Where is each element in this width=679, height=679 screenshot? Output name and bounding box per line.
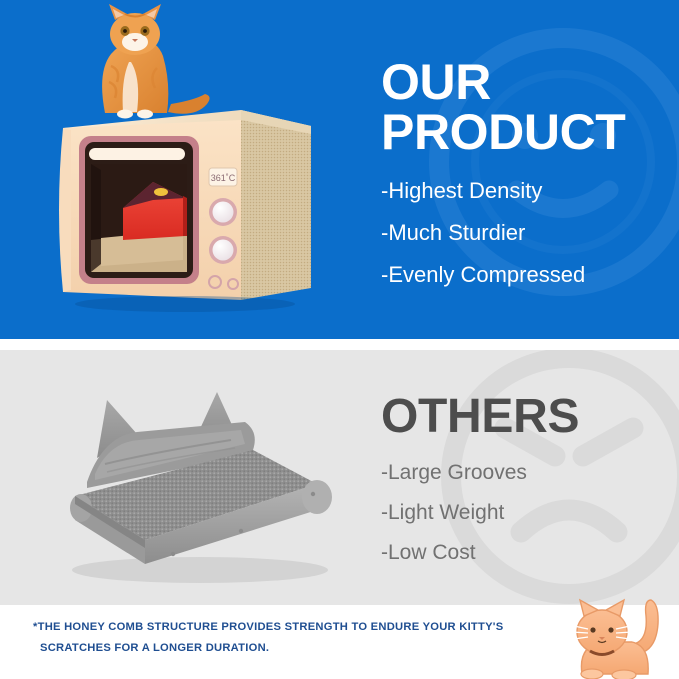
- our-product-heading-line2: PRODUCT: [381, 108, 671, 158]
- others-bullet-2: -Light Weight: [381, 500, 527, 540]
- orange-tabby-cat: [102, 4, 209, 119]
- control-knob-1: [209, 198, 237, 226]
- our-product-heading-line1: OUR: [381, 58, 671, 108]
- end-cap-right: [302, 480, 332, 514]
- control-knob-2: [209, 236, 237, 264]
- others-section: OTHERS -Large Grooves -Light Weight -Low…: [0, 350, 679, 605]
- others-bullet-list: -Large Grooves -Light Weight -Low Cost: [381, 460, 527, 580]
- our-product-image: 361˚C: [45, 0, 325, 320]
- others-product-image: [45, 388, 345, 588]
- our-product-bullet-3: -Evenly Compressed: [381, 262, 585, 304]
- our-product-section: 361˚C OUR PRODUCT -Highest Density -Much…: [0, 0, 679, 339]
- our-product-heading: OUR PRODUCT: [381, 58, 671, 157]
- cartoon-cat-mascot: [558, 596, 678, 679]
- temperature-display: 361˚C: [211, 173, 236, 183]
- footer-note: *THE HONEY COMB STRUCTURE PROVIDES STREN…: [33, 617, 533, 659]
- our-product-bullet-1: -Highest Density: [381, 178, 585, 220]
- others-heading: OTHERS: [381, 393, 671, 441]
- footer-note-line2: SCRATCHES FOR A LONGER DURATION.: [33, 638, 533, 659]
- our-product-bullet-list: -Highest Density -Much Sturdier -Evenly …: [381, 178, 585, 304]
- others-bullet-3: -Low Cost: [381, 540, 527, 580]
- others-heading-wrap: OTHERS: [381, 393, 671, 441]
- footer-note-line1: *THE HONEY COMB STRUCTURE PROVIDES STREN…: [33, 617, 533, 638]
- others-bullet-1: -Large Grooves: [381, 460, 527, 500]
- our-product-bullet-2: -Much Sturdier: [381, 220, 585, 262]
